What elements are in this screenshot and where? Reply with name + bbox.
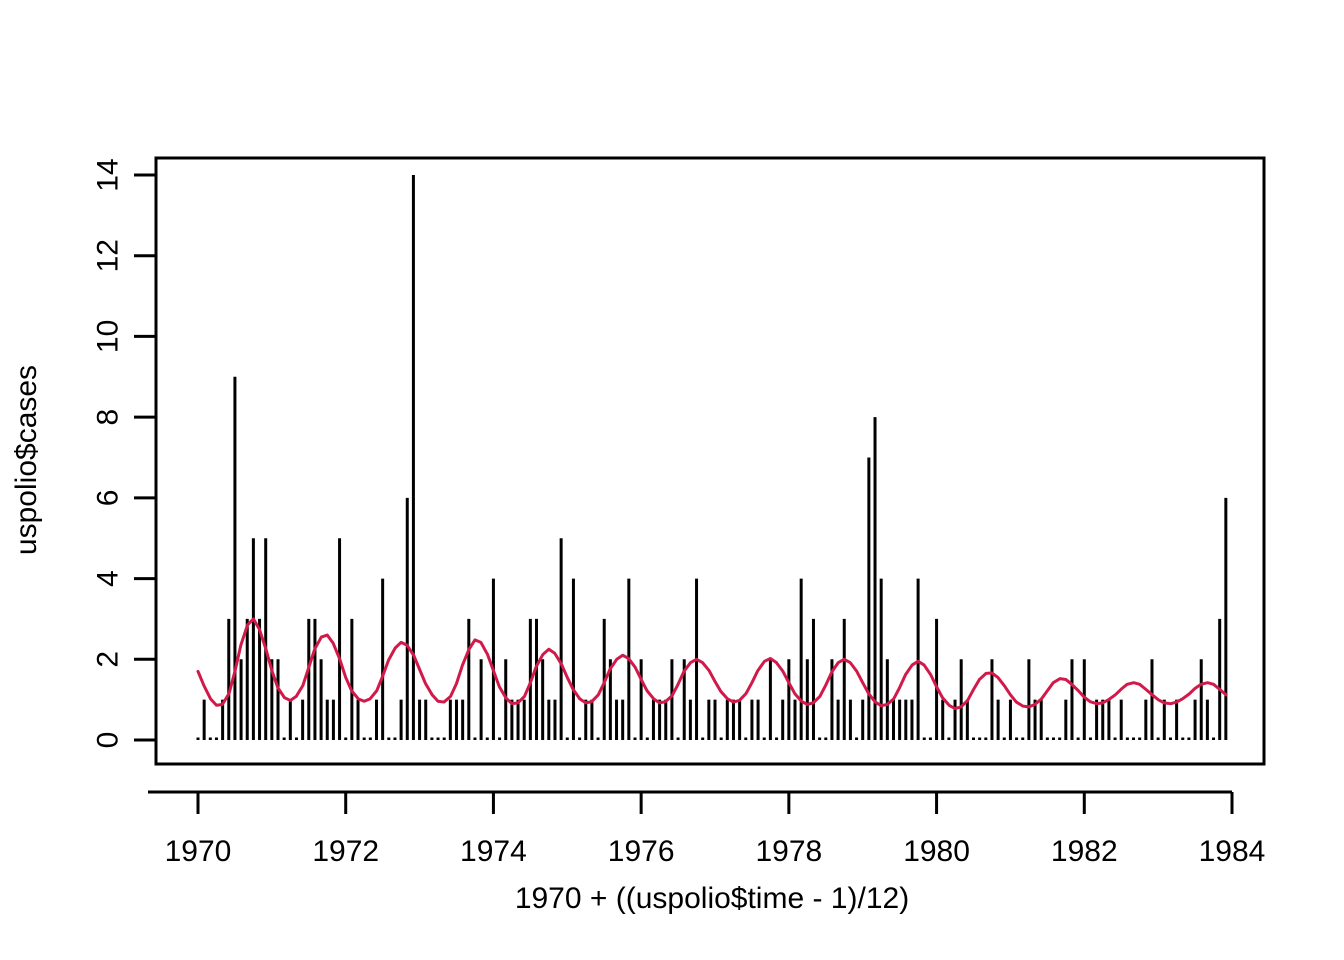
y-tick-label: 10	[92, 320, 125, 353]
x-tick-label: 1982	[1051, 835, 1118, 868]
x-tick-label: 1980	[903, 835, 970, 868]
y-tick-label: 6	[92, 490, 125, 507]
y-tick-label: 4	[92, 570, 125, 587]
x-tick-label: 1974	[460, 835, 527, 868]
y-axis: 02468101214	[92, 158, 157, 748]
y-axis-tick-labels: 02468101214	[92, 158, 125, 748]
y-tick-label: 8	[92, 409, 125, 426]
x-axis-ticks	[198, 792, 1232, 814]
x-axis: 19701972197419761978198019821984	[148, 792, 1265, 868]
y-tick-label: 2	[92, 651, 125, 668]
x-tick-label: 1972	[312, 835, 379, 868]
polio-cases-plot: 02468101214 1970197219741976197819801982…	[0, 0, 1344, 960]
y-axis-ticks	[134, 175, 156, 740]
y-tick-label: 0	[92, 732, 125, 749]
x-tick-label: 1976	[608, 835, 675, 868]
x-tick-label: 1984	[1199, 835, 1266, 868]
y-axis-title: uspolio$cases	[10, 365, 43, 555]
case-count-spikes	[198, 175, 1226, 740]
x-tick-label: 1970	[165, 835, 232, 868]
x-tick-label: 1978	[755, 835, 822, 868]
y-tick-label: 12	[92, 239, 125, 272]
x-axis-title: 1970 + ((uspolio$time - 1)/12)	[515, 882, 909, 915]
figure-canvas: 02468101214 1970197219741976197819801982…	[0, 0, 1344, 960]
y-tick-label: 14	[92, 158, 125, 191]
x-axis-tick-labels: 19701972197419761978198019821984	[165, 835, 1266, 868]
